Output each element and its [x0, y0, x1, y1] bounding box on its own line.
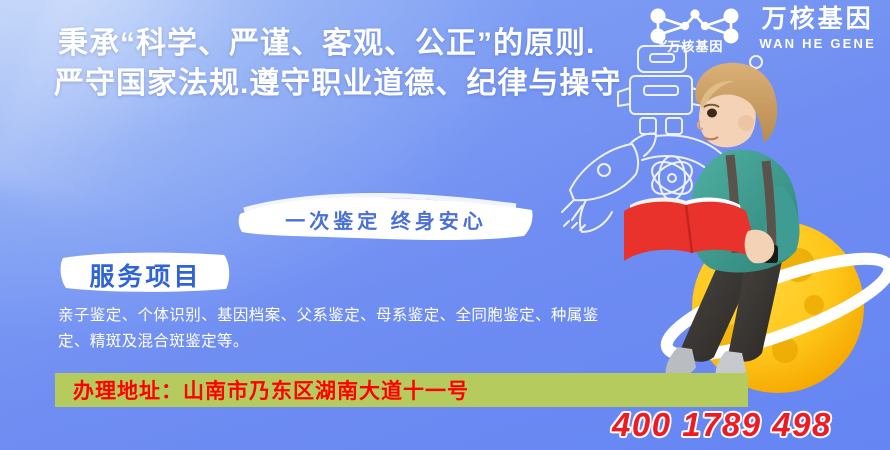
- service-heading-text: 服务项目: [58, 257, 233, 293]
- tagline-text: 一次鉴定 终身安心: [236, 205, 536, 234]
- tagline-banner: 一次鉴定 终身安心: [236, 192, 536, 244]
- address-text: 办理地址：山南市乃东区湖南大道十一号: [55, 375, 469, 405]
- address-bar: 办理地址：山南市乃东区湖南大道十一号: [55, 373, 748, 407]
- promotional-banner: 万核基因 万核基因 WAN HE GENE 秉承“科学、严谨、客观、公正”的原则…: [0, 0, 890, 450]
- brand-name-cn: 万核基因: [762, 7, 874, 32]
- service-heading-badge: 服务项目: [58, 250, 233, 294]
- boy-on-planet-illustration: [600, 55, 890, 395]
- boy-head: [695, 63, 777, 148]
- service-description: 亲子鉴定、个体识别、基因档案、父系鉴定、母系鉴定、全同胞鉴定、种属鉴定、精斑及混…: [58, 303, 618, 354]
- phone-number[interactable]: 400 1789 498: [612, 406, 832, 444]
- open-book: [624, 198, 760, 261]
- brand-name-en: WAN HE GENE: [759, 37, 876, 50]
